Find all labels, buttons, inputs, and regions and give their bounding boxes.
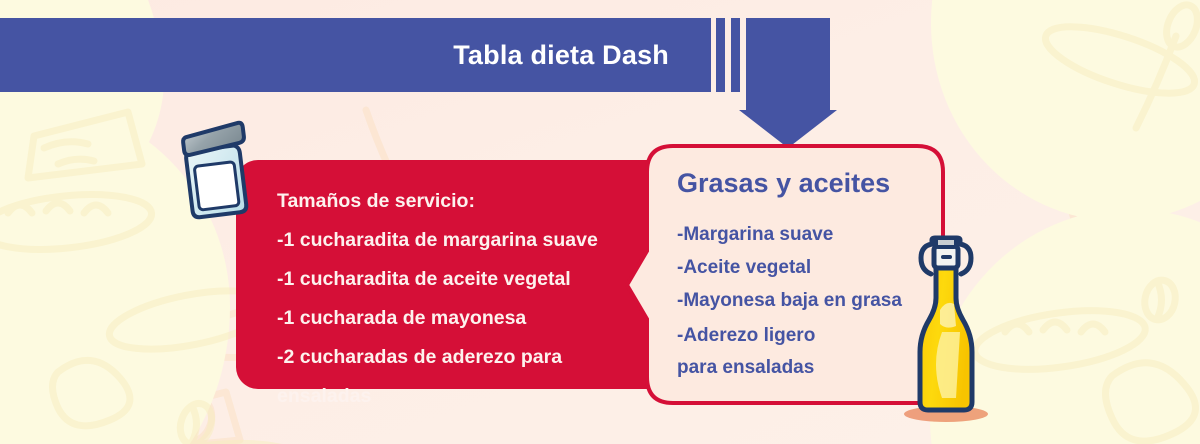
- down-arrow-icon: [739, 110, 837, 148]
- infographic-canvas: Tabla dieta Dash Tamaños de servicio: -1…: [0, 0, 1200, 444]
- category-title: Grasas y aceites: [677, 166, 945, 200]
- header-stripe-2: [731, 18, 740, 92]
- header-stripe-1: [716, 18, 725, 92]
- page-title: Tabla dieta Dash: [453, 40, 669, 71]
- mayonnaise-jar-icon: [172, 122, 258, 220]
- header-banner: Tabla dieta Dash: [0, 18, 711, 92]
- header-accent-block: [746, 18, 830, 110]
- oil-bottle-icon: [898, 236, 994, 428]
